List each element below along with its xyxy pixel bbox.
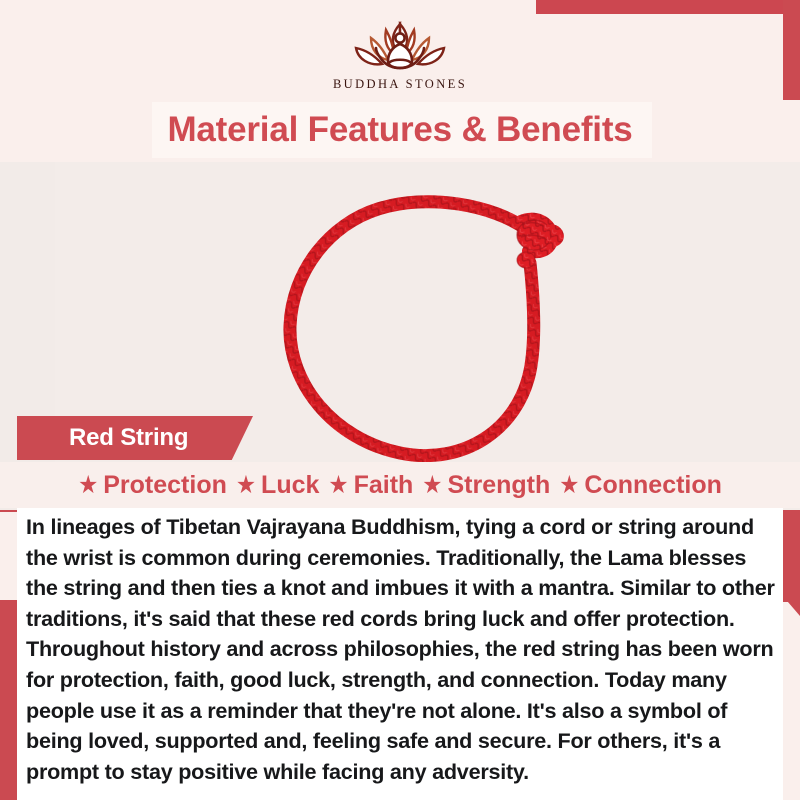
infographic-poster: BUDDHA STONES Material Features & Benefi…: [0, 0, 800, 800]
benefits-row: ★ Protection ★ Luck ★ Faith ★ Strength ★…: [0, 462, 800, 508]
description-paragraph: In lineages of Tibetan Vajrayana Buddhis…: [26, 512, 778, 787]
brand-name: BUDDHA STONES: [333, 77, 467, 92]
benefit-label: Connection: [584, 471, 722, 500]
red-string-bracelet-image: [278, 191, 578, 481]
lotus-meditation-figure-icon: [326, 14, 474, 76]
benefit-label: Strength: [447, 471, 550, 500]
benefit-item: ★ Connection: [559, 471, 722, 500]
top-bar-left-cutout: [0, 0, 536, 15]
star-icon: ★: [559, 473, 579, 498]
product-name-label: Red String: [69, 424, 188, 452]
star-icon: ★: [328, 473, 348, 498]
benefit-item: ★ Luck: [236, 471, 320, 500]
star-icon: ★: [78, 473, 98, 498]
right-accent-bar-tip: [783, 580, 800, 616]
benefit-item: ★ Strength: [422, 471, 550, 500]
star-icon: ★: [422, 473, 442, 498]
product-name-ribbon: Red String: [17, 416, 253, 460]
star-icon: ★: [236, 473, 256, 498]
benefit-item: ★ Protection: [78, 471, 227, 500]
benefit-label: Faith: [354, 471, 414, 500]
benefit-label: Protection: [103, 471, 227, 500]
benefit-label: Luck: [261, 471, 319, 500]
brand-logo-block: BUDDHA STONES: [0, 14, 800, 100]
benefit-item: ★ Faith: [328, 471, 413, 500]
page-title: Material Features & Benefits: [0, 104, 800, 156]
